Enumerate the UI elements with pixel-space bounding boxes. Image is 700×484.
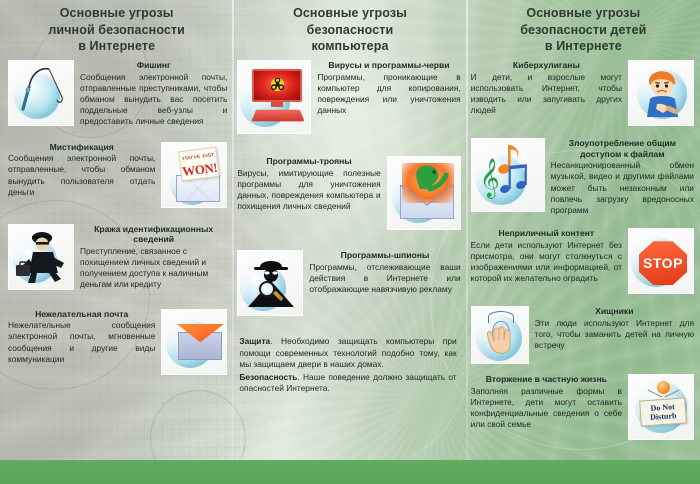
threat-text-viruses-worms: Вирусы и программы-черви Программы, прон…: [317, 60, 460, 116]
threat-body: Заполняя различные формы в Интернете, де…: [471, 386, 622, 431]
threat-text-spam: Нежелательная почта Нежелательные сообще…: [8, 309, 155, 365]
won-card: YOU'VE JUST WON!: [179, 146, 220, 180]
threat-item-privacy-invasion: Do Not Disturb Вторжение в частную жизнь…: [471, 374, 694, 440]
protection-lead-1: Защита: [239, 336, 270, 346]
octagon-shape: STOP: [639, 241, 687, 285]
threat-item-file-sharing-abuse: 𝄞 Злоупотребление общим доступом к файла…: [471, 138, 694, 216]
threat-title: Мистификация: [8, 142, 155, 153]
column-computer-safety: Вирусы и программы-черви Программы, прон…: [233, 58, 466, 484]
header-line: в Интернете: [78, 38, 155, 55]
threat-body: Программы, отслеживающие ваши действия в…: [309, 262, 460, 296]
protection-line-1: Защита. Необходимо защищать компьютеры п…: [239, 336, 456, 371]
threat-title: Программы-шпионы: [309, 250, 460, 261]
threat-body: Несанкционированный обмен музыкой, видео…: [551, 160, 694, 216]
threat-body: И дети, и взрослые могут использовать Ин…: [471, 72, 622, 117]
monitor-stand: [271, 102, 283, 107]
threat-body: Эти люди используют Интернет для того, ч…: [535, 318, 694, 352]
angry-kid-icon: [628, 60, 694, 126]
header-personal-safety: Основные угрозы личной безопасности в Ин…: [0, 0, 233, 60]
threat-body: Преступление, связанное с похищением лич…: [80, 246, 227, 291]
stop-sign-icon: STOP: [628, 228, 694, 294]
threat-title: Киберхулиганы: [471, 60, 622, 71]
column-personal-safety: Фишинг Сообщения электронной почты, отпр…: [0, 58, 233, 484]
threat-body: Если дети используют Интернет без присмо…: [471, 240, 622, 285]
header-line: личной безопасности: [48, 22, 185, 39]
trojan-envelope-icon: [387, 156, 461, 230]
protection-lead-2: Безопасность: [239, 372, 297, 382]
threat-columns: Фишинг Сообщения электронной почты, отпр…: [0, 58, 700, 484]
infographic-poster: Основные угрозы личной безопасности в Ин…: [0, 0, 700, 484]
threat-item-inappropriate-content: STOP Неприличный контент Если дети испол…: [471, 228, 694, 294]
protection-text-1: . Необходимо защищать компьютеры при пом…: [239, 336, 456, 369]
threat-title: Кража идентификационных сведений: [80, 224, 227, 245]
threat-title: Фишинг: [80, 60, 227, 71]
threat-text-inappropriate-content: Неприличный контент Если дети используют…: [471, 228, 622, 284]
header-line: Основные угрозы: [526, 5, 640, 22]
header-children-safety: Основные угрозы безопасности детей в Инт…: [467, 0, 700, 60]
threat-body: Сообщения электронной почты, отправленны…: [80, 72, 227, 128]
won-big-text: WON!: [181, 159, 219, 179]
protection-note: Защита. Необходимо защищать компьютеры п…: [237, 336, 460, 395]
threat-item-identity-theft: Кража идентификационных сведений Преступ…: [8, 224, 227, 291]
threat-text-hoax: Мистификация Сообщения электронной почты…: [8, 142, 155, 198]
header-line: безопасности детей: [520, 22, 646, 39]
spy-icon: [237, 250, 303, 316]
threat-body: Сообщения электронной почты, отправленны…: [8, 153, 155, 198]
header-line: Основные угрозы: [60, 5, 174, 22]
threat-body: Нежелательные сообщения электронной почт…: [8, 320, 155, 365]
threat-text-predators: Хищники Эти люди используют Интернет для…: [535, 306, 694, 351]
threat-body: Вирусы, имитирующие полезные программы д…: [237, 168, 380, 213]
threat-title: Злоупотребление общим доступом к файлам: [551, 138, 694, 159]
column-headers: Основные угрозы личной безопасности в Ин…: [0, 0, 700, 60]
threat-title: Неприличный контент: [471, 228, 622, 239]
thief-icon: [8, 224, 74, 290]
threat-text-cyberbullying: Киберхулиганы И дети, и взрослые могут и…: [471, 60, 622, 116]
protection-line-2: Безопасность. Наше поведение должно защи…: [239, 372, 456, 395]
sign-plate: Do Not Disturb: [639, 398, 687, 427]
threat-title: Вторжение в частную жизнь: [471, 374, 622, 385]
threat-text-trojans: Программы-трояны Вирусы, имитирующие пол…: [237, 156, 380, 212]
header-line: компьютера: [311, 38, 388, 55]
threat-text-file-sharing-abuse: Злоупотребление общим доступом к файлам …: [551, 138, 694, 216]
threat-item-viruses-worms: Вирусы и программы-черви Программы, прон…: [237, 60, 460, 134]
infected-monitor-icon: [237, 60, 311, 134]
header-line: безопасности: [307, 22, 394, 39]
threat-text-phishing: Фишинг Сообщения электронной почты, отпр…: [80, 60, 227, 128]
threat-item-phishing: Фишинг Сообщения электронной почты, отпр…: [8, 60, 227, 128]
threat-text-spyware: Программы-шпионы Программы, отслеживающи…: [309, 250, 460, 295]
header-computer-safety: Основные угрозы безопасности компьютера: [233, 0, 466, 60]
threat-item-trojans: Программы-трояны Вирусы, имитирующие пол…: [237, 156, 460, 230]
header-line: Основные угрозы: [293, 5, 407, 22]
biohazard-symbol: [271, 78, 284, 91]
stop-label: STOP: [639, 255, 687, 271]
mouse-hand-icon: [471, 306, 529, 364]
threat-text-identity-theft: Кража идентификационных сведений Преступ…: [80, 224, 227, 291]
music-notes-icon: 𝄞: [471, 138, 545, 212]
threat-title: Нежелательная почта: [8, 309, 155, 320]
threat-text-privacy-invasion: Вторжение в частную жизнь Заполняя разли…: [471, 374, 622, 430]
threat-title: Вирусы и программы-черви: [317, 60, 460, 71]
threat-item-predators: Хищники Эти люди используют Интернет для…: [471, 306, 694, 364]
fishing-rod-icon: [8, 60, 74, 126]
threat-item-spyware: Программы-шпионы Программы, отслеживающи…: [237, 250, 460, 316]
column-children-safety: Киберхулиганы И дети, и взрослые могут и…: [467, 58, 700, 484]
keyboard: [252, 110, 305, 122]
unwanted-mail-icon: [161, 309, 227, 375]
threat-item-cyberbullying: Киберхулиганы И дети, и взрослые могут и…: [471, 60, 694, 126]
do-not-disturb-icon: Do Not Disturb: [628, 374, 694, 440]
threat-item-hoax: YOU'VE JUST WON! Мистификация Сообщения …: [8, 142, 227, 208]
you-have-won-envelope-icon: YOU'VE JUST WON!: [161, 142, 227, 208]
threat-title: Хищники: [535, 306, 694, 317]
threat-body: Программы, проникающие в компьютер для к…: [317, 72, 460, 117]
dnd-line-2: Disturb: [641, 410, 686, 422]
header-line: в Интернете: [545, 38, 622, 55]
threat-item-spam: Нежелательная почта Нежелательные сообще…: [8, 309, 227, 375]
threat-title: Программы-трояны: [237, 156, 380, 167]
